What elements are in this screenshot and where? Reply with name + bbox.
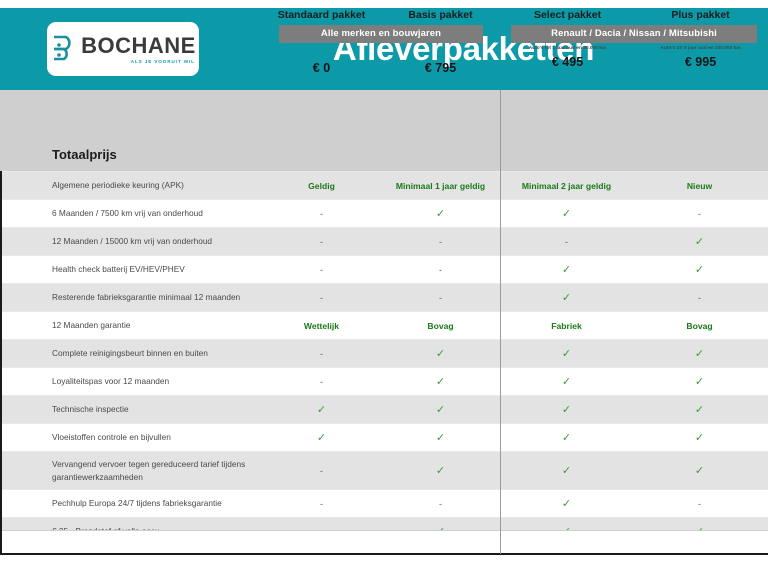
check-icon: ✓ xyxy=(436,208,445,220)
cell-basis: - xyxy=(381,293,500,303)
cell-basis: - xyxy=(381,499,500,509)
total-price-label: Totaalprijs xyxy=(52,147,117,162)
table-row: 12 Maanden garantieWettelijkBovagFabriek… xyxy=(0,311,768,339)
cell-basis: ✓ xyxy=(381,347,500,360)
table-footer-blank xyxy=(0,530,768,554)
cell-select: ✓ xyxy=(500,497,633,510)
cell-standaard: - xyxy=(262,499,381,509)
value-text: Minimaal 2 jaar geldig xyxy=(522,181,611,191)
dash-icon: - xyxy=(320,209,323,219)
value-text: Geldig xyxy=(308,181,335,191)
column-header-plus: Plus pakket xyxy=(634,9,767,21)
check-icon: ✓ xyxy=(695,264,704,276)
table-row: Vloeistoffen controle en bijvullen✓✓✓✓ xyxy=(0,423,768,451)
cell-plus: ✓ xyxy=(633,235,766,248)
cell-select: ✓ xyxy=(500,464,633,477)
check-icon: ✓ xyxy=(562,208,571,220)
check-icon: ✓ xyxy=(695,376,704,388)
right-group-prices: € 495 € 995 xyxy=(501,55,767,69)
price-plus: € 995 xyxy=(634,55,767,69)
cell-select: ✓ xyxy=(500,207,633,220)
cell-standaard: - xyxy=(262,237,381,247)
bottom-rule xyxy=(0,553,768,555)
check-icon: ✓ xyxy=(562,432,571,444)
price-standaard: € 0 xyxy=(262,61,381,75)
bochane-logo: BOCHANE ALS JE VOORUIT WIL xyxy=(47,22,199,76)
cell-plus: Nieuw xyxy=(633,181,766,191)
table-row: Loyaliteitspas voor 12 maanden-✓✓✓ xyxy=(0,367,768,395)
cell-plus: ✓ xyxy=(633,375,766,388)
cell-select: ✓ xyxy=(500,347,633,360)
cell-plus: - xyxy=(633,209,766,219)
left-group-titles: Standaard pakket Basis pakket xyxy=(262,0,500,21)
dash-icon: - xyxy=(320,349,323,359)
dash-icon: - xyxy=(320,293,323,303)
cell-basis: ✓ xyxy=(381,375,500,388)
feature-label: Vloeistoffen controle en bijvullen xyxy=(0,431,262,443)
note-plus: Auto's tot 5 jaar oud en 100.000 km xyxy=(634,46,767,51)
bochane-tagline: ALS JE VOORUIT WIL xyxy=(131,59,195,64)
dash-icon: - xyxy=(320,237,323,247)
cell-plus: ✓ xyxy=(633,347,766,360)
check-icon: ✓ xyxy=(562,465,571,477)
group-divider-top xyxy=(500,90,501,171)
cell-standaard: ✓ xyxy=(262,403,381,416)
cell-standaard: Geldig xyxy=(262,181,381,191)
cell-standaard: - xyxy=(262,265,381,275)
bochane-wordmark: BOCHANE ALS JE VOORUIT WIL xyxy=(81,35,196,64)
cell-select: ✓ xyxy=(500,431,633,444)
left-group-prices: € 0 € 795 xyxy=(262,61,500,75)
cell-standaard: - xyxy=(262,293,381,303)
cell-basis: ✓ xyxy=(381,464,500,477)
dash-icon: - xyxy=(320,466,323,476)
check-icon: ✓ xyxy=(562,376,571,388)
feature-label: Vervangend vervoer tegen gereduceerd tar… xyxy=(0,458,262,482)
value-text: Bovag xyxy=(427,321,453,331)
cell-plus: - xyxy=(633,499,766,509)
dash-icon: - xyxy=(439,265,442,275)
left-package-group: Standaard pakket Basis pakket Alle merke… xyxy=(262,0,500,81)
check-icon: ✓ xyxy=(562,264,571,276)
cell-basis: ✓ xyxy=(381,207,500,220)
cell-basis: ✓ xyxy=(381,403,500,416)
table-row: Vervangend vervoer tegen gereduceerd tar… xyxy=(0,451,768,489)
cell-select: - xyxy=(500,237,633,247)
check-icon: ✓ xyxy=(695,348,704,360)
cell-select: ✓ xyxy=(500,403,633,416)
check-icon: ✓ xyxy=(436,465,445,477)
table-row: Complete reinigingsbeurt binnen en buite… xyxy=(0,339,768,367)
dash-icon: - xyxy=(320,499,323,509)
check-icon: ✓ xyxy=(317,404,326,416)
feature-label: Loyaliteitspas voor 12 maanden xyxy=(0,375,262,387)
bochane-name: BOCHANE xyxy=(81,35,196,57)
dash-icon: - xyxy=(320,265,323,275)
note-select: Auto's tot 1 jaar oud en 20.000 km xyxy=(501,46,634,51)
dash-icon: - xyxy=(320,377,323,387)
right-group-brandbar: Renault / Dacia / Nissan / Mitsubishi xyxy=(511,25,757,43)
check-icon: ✓ xyxy=(695,236,704,248)
check-icon: ✓ xyxy=(436,376,445,388)
value-text: Bovag xyxy=(686,321,712,331)
check-icon: ✓ xyxy=(436,432,445,444)
left-group-brandbar: Alle merken en bouwjaren xyxy=(279,25,483,43)
dash-icon: - xyxy=(698,499,701,509)
features-table: Algemene periodieke keuring (APK)GeldigM… xyxy=(0,171,768,545)
cell-plus: ✓ xyxy=(633,431,766,444)
cell-standaard: Wettelijk xyxy=(262,321,381,331)
cell-plus: ✓ xyxy=(633,403,766,416)
dash-icon: - xyxy=(565,237,568,247)
dash-icon: - xyxy=(439,499,442,509)
cell-select: ✓ xyxy=(500,375,633,388)
bochane-mark-icon xyxy=(50,34,76,64)
column-header-select: Select pakket xyxy=(501,9,634,21)
cell-basis: - xyxy=(381,265,500,275)
afleverpakketten-page: BOCHANE ALS JE VOORUIT WIL Afleverpakket… xyxy=(0,0,768,576)
cell-basis: Minimaal 1 jaar geldig xyxy=(381,181,500,191)
check-icon: ✓ xyxy=(695,432,704,444)
cell-standaard: - xyxy=(262,209,381,219)
feature-label: Algemene periodieke keuring (APK) xyxy=(0,179,262,191)
feature-label: 6 Maanden / 7500 km vrij van onderhoud xyxy=(0,207,262,219)
feature-label: Resterende fabrieksgarantie minimaal 12 … xyxy=(0,291,262,303)
cell-select: ✓ xyxy=(500,291,633,304)
group-divider-body xyxy=(500,171,501,554)
feature-label: Technische inspectie xyxy=(0,403,262,415)
table-row: Resterende fabrieksgarantie minimaal 12 … xyxy=(0,283,768,311)
check-icon: ✓ xyxy=(562,348,571,360)
cell-select: Fabriek xyxy=(500,321,633,331)
price-select: € 495 xyxy=(501,55,634,69)
table-row: Pechhulp Europa 24/7 tijdens fabrieksgar… xyxy=(0,489,768,517)
check-icon: ✓ xyxy=(436,404,445,416)
dash-icon: - xyxy=(439,237,442,247)
table-row: 6 Maanden / 7500 km vrij van onderhoud-✓… xyxy=(0,199,768,227)
check-icon: ✓ xyxy=(317,432,326,444)
table-row: Technische inspectie✓✓✓✓ xyxy=(0,395,768,423)
table-row: Health check batterij EV/HEV/PHEV--✓✓ xyxy=(0,255,768,283)
value-text: Minimaal 1 jaar geldig xyxy=(396,181,485,191)
cell-standaard: - xyxy=(262,466,381,476)
value-text: Fabriek xyxy=(551,321,582,331)
check-icon: ✓ xyxy=(695,404,704,416)
dash-icon: - xyxy=(698,209,701,219)
feature-label: Complete reinigingsbeurt binnen en buite… xyxy=(0,347,262,359)
cell-basis: Bovag xyxy=(381,321,500,331)
column-header-basis: Basis pakket xyxy=(381,9,500,21)
cell-standaard: ✓ xyxy=(262,431,381,444)
dash-icon: - xyxy=(439,293,442,303)
check-icon: ✓ xyxy=(436,348,445,360)
feature-label: 12 Maanden / 15000 km vrij van onderhoud xyxy=(0,235,262,247)
feature-label: Pechhulp Europa 24/7 tijdens fabrieksgar… xyxy=(0,497,262,509)
right-package-group: Select pakket Plus pakket Renault / Daci… xyxy=(501,0,767,81)
feature-label: Health check batterij EV/HEV/PHEV xyxy=(0,263,262,275)
dash-icon: - xyxy=(698,293,701,303)
cell-plus: ✓ xyxy=(633,464,766,477)
table-row: 12 Maanden / 15000 km vrij van onderhoud… xyxy=(0,227,768,255)
cell-plus: - xyxy=(633,293,766,303)
cell-basis: - xyxy=(381,237,500,247)
check-icon: ✓ xyxy=(562,498,571,510)
right-group-titles: Select pakket Plus pakket xyxy=(501,0,767,21)
check-icon: ✓ xyxy=(695,465,704,477)
feature-label: 12 Maanden garantie xyxy=(0,319,262,331)
column-header-standaard: Standaard pakket xyxy=(262,9,381,21)
cell-select: ✓ xyxy=(500,263,633,276)
right-group-notes: Auto's tot 1 jaar oud en 20.000 km Auto'… xyxy=(501,46,767,51)
cell-standaard: - xyxy=(262,377,381,387)
cell-basis: ✓ xyxy=(381,431,500,444)
value-text: Wettelijk xyxy=(304,321,339,331)
left-edge-bar xyxy=(0,171,2,554)
cell-select: Minimaal 2 jaar geldig xyxy=(500,181,633,191)
check-icon: ✓ xyxy=(562,292,571,304)
check-icon: ✓ xyxy=(562,404,571,416)
table-row: Algemene periodieke keuring (APK)GeldigM… xyxy=(0,171,768,199)
value-text: Nieuw xyxy=(687,181,712,191)
cell-plus: ✓ xyxy=(633,263,766,276)
cell-standaard: - xyxy=(262,349,381,359)
price-basis: € 795 xyxy=(381,61,500,75)
cell-plus: Bovag xyxy=(633,321,766,331)
